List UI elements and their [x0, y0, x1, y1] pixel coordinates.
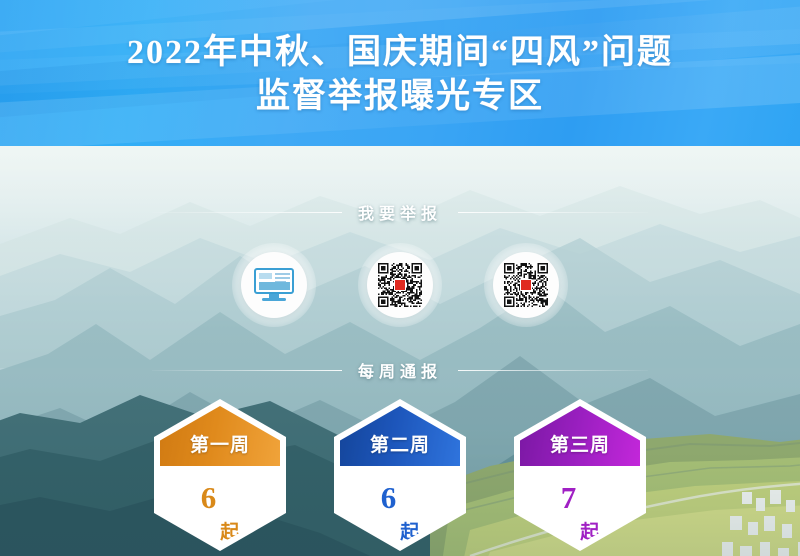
weekly-badge-count: 6 [201, 482, 217, 513]
weekly-badge-body: 7 起 [520, 466, 640, 544]
weekly-badge-unit: 起 [220, 523, 239, 544]
page-title-line-2: 监督举报曝光专区 [256, 77, 544, 117]
page-title-line-1: 2022年中秋、国庆期间“四风”问题 [127, 33, 673, 73]
weekly-badge-header: 第三周 [520, 406, 640, 466]
weekly-badge-inner: 第一周 6 起 [160, 406, 280, 544]
banner-header: 2022年中秋、国庆期间“四风”问题 监督举报曝光专区 [0, 0, 800, 146]
weekly-badge-week-label: 第三周 [550, 430, 610, 457]
qr-center-logo [520, 279, 532, 291]
monitor-content-line [275, 277, 290, 279]
qr-code-icon[interactable] [378, 263, 422, 307]
weekly-badge-header: 第一周 [160, 406, 280, 466]
report-circle[interactable] [493, 252, 559, 318]
weekly-badge-count: 6 [381, 482, 397, 513]
weekly-badge-week-2[interactable]: 第二周 6 起 [334, 399, 466, 551]
weekly-badge-inner: 第三周 7 起 [520, 406, 640, 544]
monitor-content-line [275, 273, 290, 275]
weekly-badge-week-3[interactable]: 第三周 7 起 [514, 399, 646, 551]
weekly-badge-unit: 起 [400, 523, 419, 544]
report-entry-qr-2[interactable] [484, 243, 568, 327]
weekly-badge-row: 第一周 6 起 第二周 6 起 第三 [0, 399, 800, 551]
weekly-badge-week-1[interactable]: 第一周 6 起 [154, 399, 286, 551]
weekly-badge-count: 7 [561, 482, 577, 513]
monitor-icon [254, 268, 294, 302]
weekly-badge-week-label: 第一周 [190, 430, 250, 457]
monitor-content-block [259, 282, 290, 290]
monitor-content-block [259, 273, 272, 279]
page-title: 2022年中秋、国庆期间“四风”问题 监督举报曝光专区 [0, 0, 800, 146]
report-entry-qr-1[interactable] [358, 243, 442, 327]
weekly-badge-body: 6 起 [340, 466, 460, 544]
weekly-badge-header: 第二周 [340, 406, 460, 466]
qr-center-logo [394, 279, 406, 291]
weekly-badge-unit: 起 [580, 523, 599, 544]
report-entry-website[interactable] [232, 243, 316, 327]
weekly-badge-inner: 第二周 6 起 [340, 406, 460, 544]
weekly-badge-week-label: 第二周 [370, 430, 430, 457]
monitor-screen [254, 268, 294, 294]
report-circle[interactable] [367, 252, 433, 318]
monitor-stand-base [262, 298, 286, 301]
weekly-badge-body: 6 起 [160, 466, 280, 544]
qr-code-icon[interactable] [504, 263, 548, 307]
report-circle[interactable] [241, 252, 307, 318]
report-entry-row [0, 243, 800, 327]
page-root: 2022年中秋、国庆期间“四风”问题 监督举报曝光专区 [0, 0, 800, 556]
